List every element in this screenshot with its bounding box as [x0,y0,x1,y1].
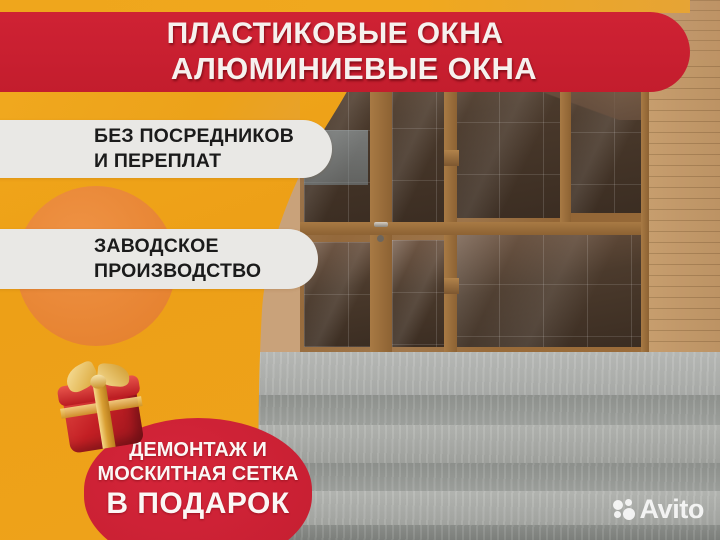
door-handle [374,222,388,227]
transom-horizontal [300,222,645,235]
feature-pill-factory-production: ЗАВОДСКОЕ ПРОИЗВОДСТВО [0,229,318,289]
header-title-line-2: АЛЮМИНИЕВЫЕ ОКНА [133,53,537,85]
avito-watermark: Avito [613,496,705,523]
glass-panel-fixed-lower [455,232,641,347]
advertisement-banner: ПЛАСТИКОВЫЕ ОКНА АЛЮМИНИЕВЫЕ ОКНА БЕЗ ПО… [0,0,720,540]
gift-box-icon [49,351,159,459]
feature-2-line-1: ЗАВОДСКОЕ [94,234,318,259]
header-title-line-1: ПЛАСТИКОВЫЕ ОКНА [167,19,504,50]
gift-offer-line-3: В ПОДАРОК [106,488,289,520]
door-hinge-middle [444,150,459,166]
header-banner: ПЛАСТИКОВЫЕ ОКНА АЛЮМИНИЕВЫЕ ОКНА [0,12,690,92]
feature-1-line-2: И ПЕРЕПЛАТ [94,149,332,174]
yellow-strip-under-header [0,92,300,122]
door-hinge-bottom [444,278,459,294]
avito-wordmark: Avito [640,496,705,523]
feature-pill-no-intermediaries: БЕЗ ПОСРЕДНИКОВ И ПЕРЕПЛАТ [0,120,332,178]
door-lock-cylinder [377,235,384,242]
gift-offer-line-2: МОСКИТНАЯ СЕТКА [98,464,299,486]
feature-1-line-1: БЕЗ ПОСРЕДНИКОВ [94,124,332,149]
avito-dots-logo-icon [613,499,635,521]
glass-panel-door-lower [392,240,444,347]
feature-2-line-2: ПРОИЗВОДСТВО [94,259,318,284]
